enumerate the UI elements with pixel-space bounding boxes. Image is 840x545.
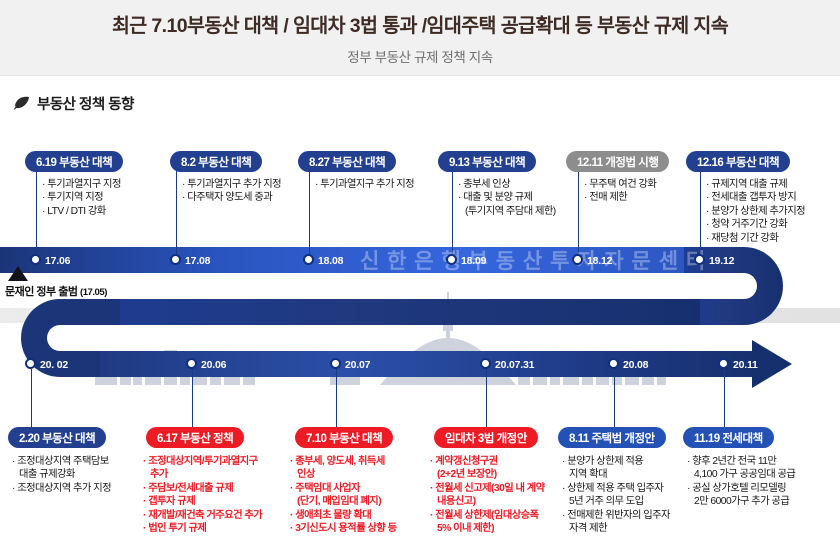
bullet-item: 인상 — [290, 468, 397, 481]
date-label: 20.06 — [201, 359, 226, 371]
connector-line — [452, 170, 453, 260]
event-bullets-8-27: · 투기과열지구 추가 지정 — [315, 178, 414, 191]
bullet-item: · 생애최초 물량 확대 — [290, 509, 397, 522]
connector-line — [309, 170, 310, 260]
timeline-dot[interactable] — [25, 358, 36, 369]
bullet-item: · 분양가 상한제 추가지정 — [706, 205, 805, 218]
connector-line — [31, 369, 32, 427]
event-bullets-12-11: · 무주택 여건 강화 · 전매 제한 — [584, 178, 656, 205]
timeline-dot[interactable] — [170, 254, 181, 265]
bullet-item: · 전세대출 갭투자 방지 — [706, 191, 805, 204]
bullet-item: 자격 제한 — [562, 522, 670, 535]
bullet-item: 2만 6000가구 추가 공급 — [687, 495, 795, 508]
timeline-dot[interactable] — [30, 254, 41, 265]
bullet-item: 내용신고) — [430, 495, 545, 508]
event-bullets-12-16: · 규제지역 대출 규제 · 전세대출 갭투자 방지 · 분양가 상한제 추가지… — [706, 178, 805, 245]
bullet-item: 대출 규제강화 — [12, 468, 111, 481]
bullet-item: 추가 — [143, 468, 262, 481]
bullet-item: · 종부세 인상 — [458, 178, 556, 191]
date-label: 20.08 — [623, 359, 648, 371]
date-label: 19.12 — [709, 255, 734, 267]
date-label: 18.12 — [587, 255, 612, 267]
triangle-marker — [8, 266, 28, 281]
event-pill-11-19[interactable]: 11.19 전세대책 — [683, 427, 774, 448]
bullet-item: · 조정대상지역 추가 지정 — [12, 482, 111, 495]
bullet-item: · 재개발/재건축 거주요건 추가 — [143, 509, 262, 522]
bullet-item: · 대출 및 분양 규제 — [458, 191, 556, 204]
connector-line — [176, 170, 177, 260]
event-bullets-2-20: · 조정대상지역 주택담보 대출 규제강화 · 조정대상지역 추가 지정 — [12, 455, 111, 495]
bullet-item: · 계약갱신청구권 — [430, 455, 545, 468]
bullet-item: · 청약 거주기간 강화 — [706, 218, 805, 231]
bullet-item: 5% 이내 제한) — [430, 522, 545, 535]
event-bullets-9-13: · 종부세 인상 · 대출 및 분양 규제 (투기지역 주담대 제한) — [458, 178, 556, 218]
event-bullets-7-10: · 종부세, 양도세, 취득세 인상 · 주택임대 사업자 (단기, 매입임대 … — [290, 455, 397, 535]
event-pill-7-10[interactable]: 7.10 부동산 대책 — [295, 427, 393, 448]
date-label: 18.09 — [461, 255, 486, 267]
date-label: 20.07.31 — [495, 359, 534, 371]
bullet-item: · 규제지역 대출 규제 — [706, 178, 805, 191]
connector-line — [614, 369, 615, 427]
timeline-dot[interactable] — [480, 358, 491, 369]
bullet-item: · 투기과열지구 추가 지정 — [182, 178, 281, 191]
government-start-date: (17.05) — [80, 287, 107, 298]
government-start-text: 문재인 정부 출범 — [5, 286, 77, 298]
timeline-dot[interactable] — [718, 358, 729, 369]
date-label: 20. 02 — [40, 359, 68, 371]
date-label: 20.07 — [345, 359, 370, 371]
event-bullets-11-19: · 향후 2년간 전국 11만 4,100 가구 공공임대 공급 · 공실 상가… — [687, 455, 795, 509]
date-label: 17.06 — [45, 255, 70, 267]
event-pill-2-20[interactable]: 2.20 부동산 대책 — [8, 427, 106, 448]
event-bullets-8-11: · 분양가 상한제 적용 지역 확대 · 상한제 적용 주택 입주자 5년 거주… — [562, 455, 670, 535]
bullet-item: (단기, 매입임대 폐지) — [290, 495, 397, 508]
bullet-item: · 3기신도시 용적률 상향 등 — [290, 522, 397, 535]
bullet-item: · 투기과열지구 지정 — [42, 178, 121, 191]
bullet-item: · 무주택 여건 강화 — [584, 178, 656, 191]
event-bullets-6-17: · 조정대상지역/투기과열지구 추가 · 주담보/전세대출 규제 · 갭투자 규… — [143, 455, 262, 535]
connector-line — [700, 170, 701, 260]
bullet-item: · 투기과열지구 추가 지정 — [315, 178, 414, 191]
event-pill-12-11[interactable]: 12.11 개정법 시행 — [566, 151, 669, 172]
date-label: 18.08 — [318, 255, 343, 267]
bullet-item: · 분양가 상한제 적용 — [562, 455, 670, 468]
event-pill-imdaecha[interactable]: 임대차 3법 개정안 — [434, 427, 538, 448]
timeline-dot[interactable] — [608, 358, 619, 369]
connector-line — [486, 369, 487, 427]
event-pill-8-27[interactable]: 8.27 부동산 대책 — [298, 151, 396, 172]
timeline-dot[interactable] — [446, 254, 457, 265]
bullet-item: · LTV / DTI 강화 — [42, 205, 121, 218]
bullet-item: · 전매 제한 — [584, 191, 656, 204]
date-label: 17.08 — [185, 255, 210, 267]
bullet-item: 5년 거주 의무 도입 — [562, 495, 670, 508]
bullet-item: · 향후 2년간 전국 11만 — [687, 455, 795, 468]
timeline-arrow-head — [752, 340, 792, 388]
timeline-dot[interactable] — [303, 254, 314, 265]
event-bullets-imdaecha: · 계약갱신청구권 (2+2년 보장안) · 전월세 신고제(30일 내 계약 … — [430, 455, 545, 535]
bullet-item: · 주택임대 사업자 — [290, 482, 397, 495]
timeline-dot[interactable] — [330, 358, 341, 369]
bullet-item: · 주담보/전세대출 규제 — [143, 482, 262, 495]
event-pill-6-17[interactable]: 6.17 부동산 정책 — [146, 427, 244, 448]
bullet-item: · 전매제한 위반자의 입주자 — [562, 509, 670, 522]
bullet-item: (2+2년 보장안) — [430, 468, 545, 481]
connector-line — [724, 369, 725, 427]
event-pill-8-2[interactable]: 8.2 부동산 대책 — [170, 151, 262, 172]
bullet-item: · 법인 투기 규제 — [143, 522, 262, 535]
bullet-item: · 전월세 상한제(임대상승폭 — [430, 509, 545, 522]
timeline-dot[interactable] — [694, 254, 705, 265]
bullet-item: · 재당첨 기간 강화 — [706, 232, 805, 245]
bullet-item: (투기지역 주담대 제한) — [458, 205, 556, 218]
event-pill-9-13[interactable]: 9.13 부동산 대책 — [438, 151, 536, 172]
bullet-item: · 공실 상가호텔 리모델링 — [687, 482, 795, 495]
bullet-item: · 투기지역 지정 — [42, 191, 121, 204]
timeline-track-row1 — [0, 247, 744, 273]
event-pill-12-16[interactable]: 12.16 부동산 대책 — [686, 151, 790, 172]
government-start-label: 문재인 정부 출범 (17.05) — [5, 283, 107, 299]
date-label: 20.11 — [733, 359, 758, 371]
bullet-item: · 갭투자 규제 — [143, 495, 262, 508]
bullet-item: · 상한제 적용 주택 입주자 — [562, 482, 670, 495]
connector-line — [36, 170, 37, 260]
bullet-item: · 다주택자 양도세 중과 — [182, 191, 281, 204]
event-pill-6-19[interactable]: 6.19 부동산 대책 — [25, 151, 123, 172]
bullet-item: · 조정대상지역/투기과열지구 — [143, 455, 262, 468]
timeline-track-return — [60, 299, 700, 325]
bullet-item: 지역 확대 — [562, 468, 670, 481]
event-pill-8-11[interactable]: 8.11 주택법 개정안 — [558, 427, 666, 448]
timeline-dot[interactable] — [186, 358, 197, 369]
connector-line — [578, 170, 579, 260]
event-bullets-8-2: · 투기과열지구 추가 지정 · 다주택자 양도세 중과 — [182, 178, 281, 205]
timeline-dot[interactable] — [572, 254, 583, 265]
connector-line — [192, 369, 193, 427]
bullet-item: 4,100 가구 공공임대 공급 — [687, 468, 795, 481]
event-bullets-6-19: · 투기과열지구 지정 · 투기지역 지정 · LTV / DTI 강화 — [42, 178, 121, 218]
bullet-item: · 종부세, 양도세, 취득세 — [290, 455, 397, 468]
timeline-track-row2 — [100, 351, 756, 377]
bullet-item: · 조정대상지역 주택담보 — [12, 455, 111, 468]
connector-line — [336, 369, 337, 427]
bullet-item: · 전월세 신고제(30일 내 계약 — [430, 482, 545, 495]
